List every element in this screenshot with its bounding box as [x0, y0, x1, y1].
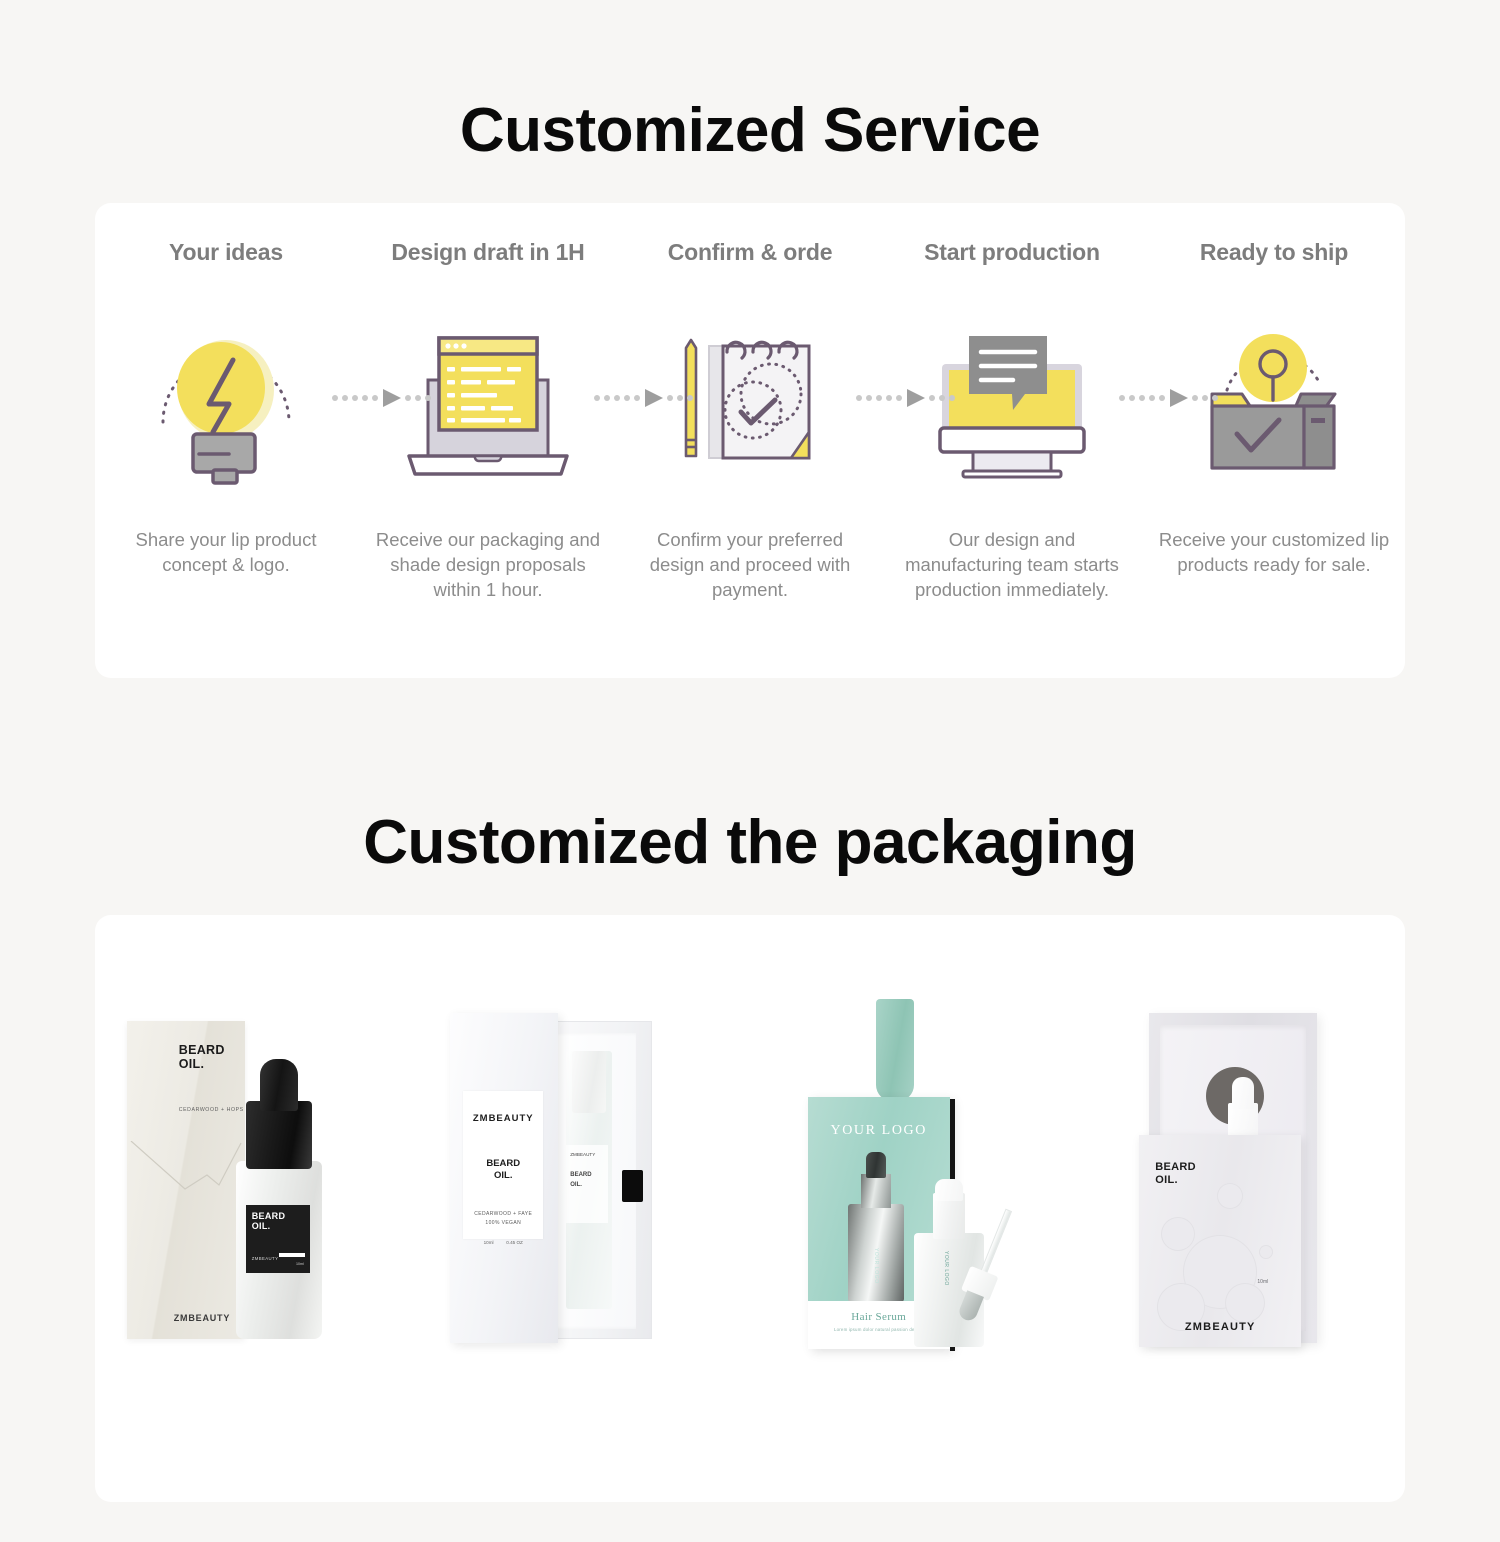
- product2-sleeve: ZMBEAUTY BEARD OIL. CEDARWOOD + FAYE 100…: [450, 1013, 558, 1343]
- lightbulb-icon: [141, 322, 311, 487]
- dotted-arrow-right-icon-1: [332, 387, 432, 409]
- bottle-label-volume: 10ml: [296, 1262, 304, 1266]
- dotted-arrow-right-icon-2: [594, 387, 694, 409]
- product3-box-artwork-bottle: YOUR LOGO: [848, 1152, 904, 1302]
- inner-bottle-cap: [572, 1051, 606, 1113]
- product2-inner-bottle: ZMBEAUTY BEARD OIL.: [566, 1051, 612, 1309]
- bottle-label-title: BEARD OIL.: [252, 1211, 286, 1231]
- dotted-arrow-right-icon-3: [856, 387, 956, 409]
- step-title: Confirm & orde: [668, 239, 833, 266]
- step-description: Receive your customized lip products rea…: [1154, 527, 1394, 577]
- product2-label-brand: ZMBEAUTY: [463, 1113, 543, 1124]
- step-description: Our design and manufacturing team starts…: [892, 527, 1132, 602]
- product4-volume: 10ml: [1257, 1279, 1268, 1285]
- product3-ribbon: [876, 999, 914, 1101]
- bottle-cap: [1232, 1077, 1254, 1109]
- product3-logo: YOUR LOGO: [808, 1123, 950, 1139]
- product4-brand: ZMBEAUTY: [1139, 1321, 1301, 1333]
- molecule-blob: [1217, 1183, 1243, 1209]
- dotted-arrow-right-icon-4: [1119, 387, 1219, 409]
- bottle-label: BEARD OIL. ZMBEAUTY 10ml: [246, 1205, 310, 1273]
- product4-front-panel: BEARD OIL. 10ml ZMBEAUTY: [1139, 1135, 1301, 1347]
- packaging-products-card: BEARD OIL. CEDARWOOD + HOPS ZMBEAUTY BEA…: [95, 915, 1405, 1502]
- step-title: Ready to ship: [1200, 239, 1348, 266]
- molecule-blob: [1259, 1245, 1273, 1259]
- artwork-bottle-text: YOUR LOGO: [872, 1248, 879, 1284]
- product1-carton: BEARD OIL. CEDARWOOD + HOPS ZMBEAUTY: [127, 1021, 245, 1339]
- artwork-bottle-neck: [861, 1174, 891, 1208]
- product-hair-serum-mint-box[interactable]: YOUR LOGO YOUR LOGO Hair Serum Lorem ips…: [764, 999, 1064, 1419]
- process-step-start-production: Start production Our des: [881, 203, 1143, 678]
- packaging-products-row: BEARD OIL. CEDARWOOD + HOPS ZMBEAUTY BEA…: [95, 915, 1405, 1502]
- molecule-blob: [1161, 1217, 1195, 1251]
- process-step-your-ideas: Your ideas Share your lip product concep…: [95, 203, 357, 678]
- product1-carton-title: BEARD OIL.: [179, 1043, 225, 1071]
- bottle-dropper-top: [260, 1059, 298, 1111]
- product1-carton-brand: ZMBEAUTY: [174, 1313, 230, 1323]
- product3-serum-bottle: YOUR LOGO: [914, 1179, 992, 1347]
- product2-label-title: BEARD OIL.: [463, 1158, 543, 1182]
- product-beard-oil-carton-bottle[interactable]: BEARD OIL. CEDARWOOD + HOPS ZMBEAUTY BEA…: [109, 999, 409, 1419]
- page-title-customized-service: Customized Service: [0, 42, 1500, 162]
- pipette-bulb: [957, 1290, 984, 1323]
- step-description: Receive our packaging and shade design p…: [368, 527, 608, 602]
- step-description: Share your lip product concept & logo.: [106, 527, 346, 577]
- inner-bottle-label: ZMBEAUTY BEARD OIL.: [566, 1145, 608, 1223]
- process-steps-card: Your ideas Share your lip product concep…: [95, 203, 1405, 678]
- step-title: Your ideas: [169, 239, 283, 266]
- bottle-label-brand: ZMBEAUTY: [252, 1256, 279, 1261]
- product2-label: ZMBEAUTY BEARD OIL. CEDARWOOD + FAYE 100…: [463, 1091, 543, 1239]
- product2-pull-tab: [622, 1170, 643, 1202]
- serum-bottle-cap: [935, 1179, 963, 1201]
- step-title: Design draft in 1H: [391, 239, 584, 266]
- serum-bottle-text: YOUR LOGO: [942, 1251, 949, 1286]
- product2-label-scent: CEDARWOOD + FAYE 100% VEGAN: [463, 1210, 543, 1228]
- artwork-bottle-cap: [866, 1152, 886, 1178]
- product1-dropper-bottle: BEARD OIL. ZMBEAUTY 10ml: [233, 1057, 325, 1339]
- product-beard-oil-slide-box[interactable]: ZMBEAUTY BEARD OIL. ZMBEAUTY BEARD OIL.: [436, 999, 736, 1419]
- molecule-blob: [1225, 1283, 1265, 1323]
- bottle-label-bar: [279, 1253, 305, 1257]
- process-step-ready-to-ship: Ready to ship: [1143, 203, 1405, 678]
- step-title: Start production: [924, 239, 1100, 266]
- process-steps-row: Your ideas Share your lip product concep…: [95, 203, 1405, 678]
- product2-label-meta: 10ml 0.45 OZ: [463, 1240, 543, 1245]
- process-step-design-draft: Design draft in 1H: [357, 203, 619, 678]
- bottle-cap: [246, 1101, 312, 1169]
- product4-title: BEARD OIL.: [1155, 1161, 1196, 1187]
- process-step-confirm-order: Confirm & orde: [619, 203, 881, 678]
- page-title-customized-packaging: Customized the packaging: [0, 812, 1500, 874]
- product-beard-oil-drawer-box[interactable]: BEARD OIL. 10ml ZMBEAUTY: [1091, 999, 1391, 1419]
- step-description: Confirm your preferred design and procee…: [630, 527, 870, 602]
